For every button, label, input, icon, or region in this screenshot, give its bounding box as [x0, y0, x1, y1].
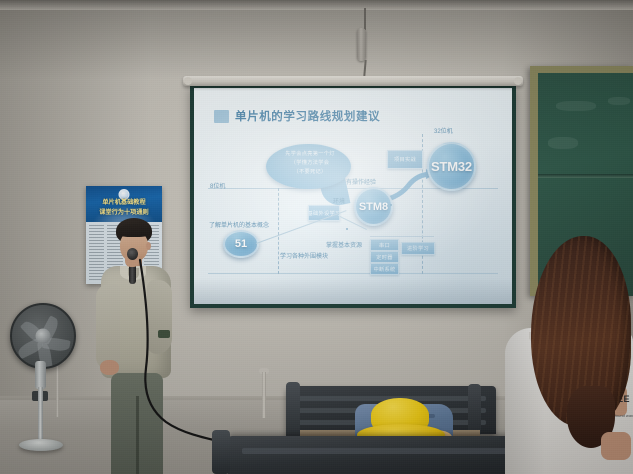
screen-roller-casing[interactable]	[183, 76, 523, 86]
axis-divider-left	[278, 188, 279, 274]
poster-title: 单片机基础教程 课堂行为十项通则	[86, 198, 162, 217]
fan-hub	[36, 329, 51, 344]
projection-screen: 单片机的学习路线规划建议 8位机 32位机 先学会点亮第一个灯 （学懂方法学会 …	[190, 84, 516, 308]
node-51: 51	[223, 230, 259, 258]
axis-label-32bit: 32位机	[434, 126, 453, 135]
axis-label-8bit: 8位机	[210, 181, 225, 190]
chalk-smudge	[548, 137, 578, 149]
slide-title-row: 单片机的学习路线规划建议	[214, 108, 380, 124]
ceiling-cable	[364, 8, 366, 30]
presenter-fringe	[117, 224, 151, 237]
presenter-ear	[146, 242, 151, 250]
label-experience: 有操作经验	[346, 177, 376, 186]
chalk-smudge	[556, 101, 596, 111]
classroom-presentation-photo: 单片机的学习路线规划建议 8位机 32位机 先学会点亮第一个灯 （学懂方法学会 …	[0, 0, 633, 474]
fan-base	[19, 439, 63, 451]
poster-header: 单片机基础教程 课堂行为十项通则	[86, 186, 162, 222]
box-advanced-study: 进阶学习	[401, 242, 435, 255]
presenter-wristwatch	[158, 330, 170, 338]
label-basic-concepts: 了解单片机的基本概念	[209, 220, 269, 229]
marker-dot-1	[390, 204, 392, 206]
seated-student: COFFEE FUK life would found warm	[505, 236, 633, 474]
fan-cage	[10, 303, 76, 369]
box-project-practice: 项目实战	[387, 150, 423, 169]
bench-arm-right	[468, 384, 481, 436]
presentation-slide: 单片机的学习路线规划建议 8位机 32位机 先学会点亮第一个灯 （学懂方法学会 …	[194, 88, 512, 304]
presenter-left-arm	[96, 284, 120, 370]
student-arm	[601, 432, 631, 460]
foreground-bench-arm	[212, 430, 230, 474]
box-uart: 串口	[370, 239, 399, 251]
presenter	[92, 218, 192, 474]
roller-knob-left	[184, 77, 192, 85]
foreground-bench	[228, 436, 528, 474]
presenter-trouser-seam	[136, 396, 139, 474]
screen-surface: 单片机的学习路线规划建议 8位机 32位机 先学会点亮第一个灯 （学懂方法学会 …	[194, 88, 512, 304]
chalkboard-ledge	[538, 174, 633, 178]
chalk-smudge	[608, 97, 630, 105]
floor-pipe	[262, 372, 266, 418]
presenter-right-arm	[147, 280, 172, 354]
connector-boxes-bracket	[370, 236, 434, 237]
slide-title: 单片机的学习路线规划建议	[235, 108, 380, 124]
fan-neck	[35, 361, 46, 389]
node-stm32: STM32	[427, 142, 476, 191]
node-stm8: STM8	[354, 187, 393, 226]
pedestal-fan[interactable]	[4, 303, 78, 453]
marker-dot-2	[346, 228, 348, 230]
box-interrupt: 中断系统	[370, 263, 399, 275]
screen-vignette-bottom	[194, 278, 512, 304]
cable-inline-box	[357, 28, 366, 61]
title-bullet-square-icon	[214, 110, 229, 123]
label-environment: 环境	[333, 196, 345, 205]
fan-pole	[38, 387, 43, 443]
box-timer: 定时器	[370, 251, 399, 263]
connector-51-to-stm8	[256, 210, 347, 244]
roller-knob-right	[514, 77, 522, 85]
label-basic-resources: 掌握基本资源	[326, 240, 362, 249]
microphone-head-icon	[127, 248, 138, 260]
bench-arm-left	[286, 382, 300, 440]
axis-line-lower	[208, 273, 498, 274]
speech-bubble-text: 先学会点亮第一个灯 （学懂方法学会 （不要死记）	[274, 150, 346, 177]
label-peripheral-modules: 学习各种外围模块	[280, 251, 328, 260]
foreground-bench-slat	[242, 448, 514, 454]
